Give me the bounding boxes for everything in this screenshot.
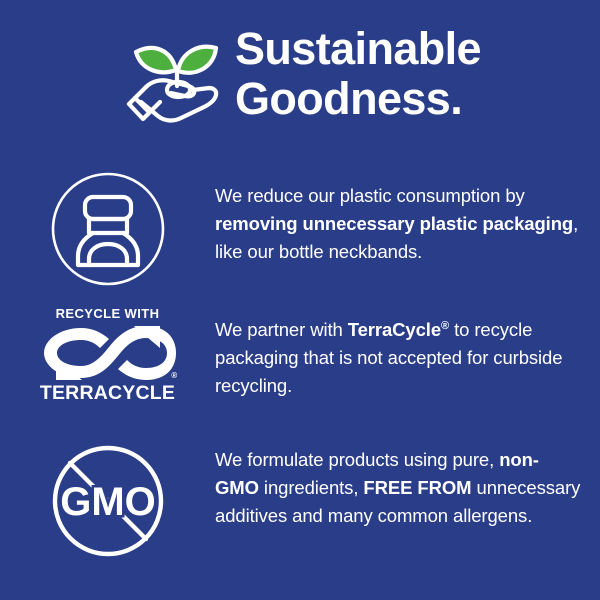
text-cell-gmo: We formulate products using pure, non-GM… [215, 440, 600, 530]
benefit-row-terracycle: RECYCLE WITH TERRACYCLE [0, 306, 600, 404]
terracycle-top-label: RECYCLE WITH [56, 306, 160, 321]
icon-cell-gmo: GMO [0, 440, 215, 565]
registered-mark-icon: ® [171, 371, 177, 380]
text-segment-bold: FREE FROM [363, 477, 471, 498]
text-segment: We reduce our plastic consumption by [215, 185, 525, 206]
plastic-bottle-neckband-icon [49, 170, 167, 293]
header: Sustainable Goodness. [0, 24, 600, 128]
text-segment: ingredients, [259, 477, 364, 498]
terracycle-wordmark-wrap: TERRACYCLE ® [40, 382, 175, 404]
page-title: Sustainable Goodness. [235, 24, 481, 128]
no-gmo-icon: GMO [49, 442, 167, 565]
gmo-label: GMO [60, 480, 156, 524]
text-cell-terracycle: We partner with TerraCycle® to recycle p… [215, 306, 600, 400]
terracycle-logo: RECYCLE WITH TERRACYCLE [37, 306, 179, 404]
text-segment-bold: TerraCycle [348, 319, 441, 340]
icon-cell-plastic [0, 168, 215, 293]
text-segment-bold: removing unnecessary plastic packaging [215, 213, 573, 234]
text-cell-plastic: We reduce our plastic consumption by rem… [215, 168, 600, 266]
benefit-text-gmo: We formulate products using pure, non-GM… [215, 446, 582, 530]
registered-mark-superscript: ® [441, 320, 449, 332]
benefit-text-plastic: We reduce our plastic consumption by rem… [215, 182, 582, 266]
text-segment: We partner with [215, 319, 348, 340]
hand-holding-sprout-icon [119, 24, 227, 128]
benefit-text-terracycle: We partner with TerraCycle® to recycle p… [215, 316, 582, 400]
benefit-row-plastic: We reduce our plastic consumption by rem… [0, 168, 600, 293]
text-segment: We formulate products using pure, [215, 449, 499, 470]
benefit-row-gmo: GMO We formulate products using pure, no… [0, 440, 600, 565]
sustainable-goodness-infographic: Sustainable Goodness. [0, 0, 600, 600]
icon-cell-terracycle: RECYCLE WITH TERRACYCLE [0, 306, 215, 404]
terracycle-bottom-label: TERRACYCLE [40, 382, 175, 404]
recycle-infinity-loop-icon [40, 324, 176, 382]
